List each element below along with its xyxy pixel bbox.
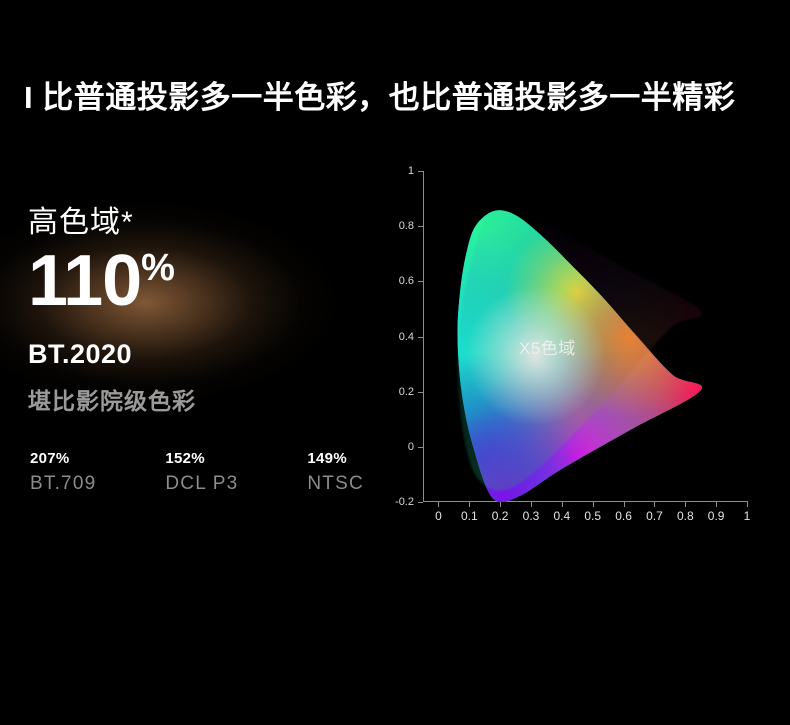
x-axis-tick-label: 0.8 — [677, 509, 694, 523]
y-axis-tick-label: 0.8 — [380, 220, 414, 232]
y-axis-tick-label: 0 — [380, 441, 414, 453]
x-axis-tick — [469, 502, 470, 507]
stat-value: 207% — [30, 450, 96, 467]
y-axis-tick-label: 0.6 — [380, 275, 414, 287]
gamut-standard: BT.2020 — [28, 339, 368, 370]
x-axis-tick — [716, 502, 717, 507]
y-axis-tick — [418, 502, 423, 503]
y-axis-tick — [418, 392, 423, 393]
gamut-series-label: X5色域 — [519, 334, 576, 359]
stat-item: 149% NTSC — [307, 450, 364, 495]
stat-item: 152% DCL P3 — [165, 450, 238, 495]
x-axis-tick-label: 1 — [744, 509, 751, 523]
x-axis-tick-label: 0.5 — [584, 509, 601, 523]
gamut-value-unit: % — [141, 247, 175, 289]
stat-label: NTSC — [307, 473, 364, 495]
y-axis-tick-label: 0.4 — [380, 331, 414, 343]
x-axis-tick-label: 0.9 — [708, 509, 725, 523]
x-axis-tick-label: 0.1 — [461, 509, 478, 523]
x-axis-tick-label: 0.6 — [615, 509, 632, 523]
x-axis-tick — [747, 502, 748, 507]
stat-value: 149% — [307, 450, 364, 467]
gamut-highlight-block: 高色域* 110% BT.2020 堪比影院级色彩 — [28, 206, 368, 416]
gamut-subtitle: 堪比影院级色彩 — [28, 382, 368, 416]
y-axis-tick — [418, 337, 423, 338]
stat-value: 152% — [165, 450, 238, 467]
x-axis-tick — [438, 502, 439, 507]
stat-item: 207% BT.709 — [30, 450, 96, 495]
y-axis-tick-label: 0.2 — [380, 386, 414, 398]
y-axis-tick — [418, 447, 423, 448]
y-axis-tick-label: 1 — [380, 165, 414, 177]
x-axis-tick — [500, 502, 501, 507]
y-axis-tick — [418, 281, 423, 282]
chart-plot-area: X5色域 00.10.20.30.40.50.60.70.80.91-0.200… — [423, 171, 747, 502]
gamut-value-number: 110 — [28, 241, 141, 321]
x-axis-tick-label: 0.7 — [646, 509, 663, 523]
gamut-reflection — [398, 530, 770, 725]
coverage-stats-row: 207% BT.709 152% DCL P3 149% NTSC — [30, 450, 364, 495]
chromaticity-chart: X5色域 00.10.20.30.40.50.60.70.80.91-0.200… — [398, 158, 770, 530]
y-axis-tick — [418, 226, 423, 227]
x-axis-tick-label: 0 — [435, 509, 442, 523]
x-axis-tick-label: 0.4 — [554, 509, 571, 523]
y-axis-tick-label: -0.2 — [380, 496, 414, 508]
promo-page: I 比普通投影多一半色彩，也比普通投影多一半精彩 高色域* 110% BT.20… — [0, 0, 790, 725]
page-title: I 比普通投影多一半色彩，也比普通投影多一半精彩 — [24, 72, 735, 117]
gamut-area — [423, 171, 747, 502]
x-axis-tick — [562, 502, 563, 507]
x-axis-tick — [624, 502, 625, 507]
x-axis-tick-label: 0.3 — [523, 509, 540, 523]
gamut-value: 110% — [28, 245, 368, 317]
stat-label: DCL P3 — [165, 473, 238, 495]
x-axis-tick-label: 0.2 — [492, 509, 509, 523]
x-axis-tick — [685, 502, 686, 507]
x-axis-tick — [531, 502, 532, 507]
x-axis-tick — [593, 502, 594, 507]
stat-label: BT.709 — [30, 473, 96, 495]
x-axis-tick — [654, 502, 655, 507]
y-axis-tick — [418, 171, 423, 172]
gamut-kicker: 高色域* — [28, 206, 368, 239]
